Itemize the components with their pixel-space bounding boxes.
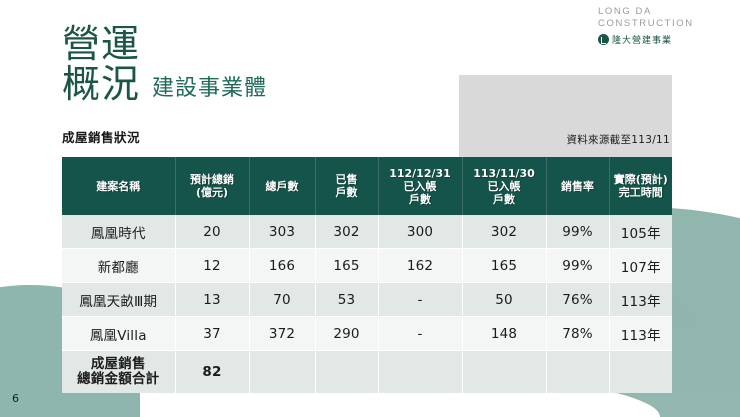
- slide-canvas: LONG DA CONSTRUCTION 隆大營建事業 營運 概況 建設事業體 …: [0, 0, 740, 417]
- cell-completion: 105年: [609, 215, 672, 249]
- cell-total-units: 166: [249, 249, 315, 283]
- logo-chinese-text: 隆大營建事業: [612, 33, 672, 46]
- cell-total-units: 372: [249, 317, 315, 351]
- cell-total-empty-2: [315, 351, 378, 394]
- col-header-booked-113: 113/11/30 已入帳 戶數: [462, 157, 546, 215]
- col-header-completion: 實際(預計) 完工時間: [609, 157, 672, 215]
- table-header-row: 建案名稱 預計總銷 (億元) 總戶數 已售 戶數 112/12/31: [62, 157, 672, 215]
- col-header-sales-rate-l1: 銷售率: [548, 180, 608, 193]
- col-header-sold-units: 已售 戶數: [315, 157, 378, 215]
- col-header-booked-113-l1: 113/11/30: [464, 167, 545, 180]
- cell-sales-rate: 99%: [546, 215, 609, 249]
- cell-total-empty-4: [462, 351, 546, 394]
- cell-total-label-l1: 成屋銷售: [63, 357, 174, 372]
- cell-booked-113: 302: [462, 215, 546, 249]
- col-header-project-name-l1: 建案名稱: [63, 180, 174, 193]
- cell-project-name: 鳳凰Villa: [62, 317, 175, 351]
- cell-booked-113: 148: [462, 317, 546, 351]
- table-total-row: 成屋銷售 總銷金額合計 82: [62, 351, 672, 394]
- col-header-booked-113-l3: 戶數: [464, 193, 545, 206]
- logo-text-line1: LONG DA: [598, 6, 718, 18]
- col-header-expected-total-sales-l2: (億元): [177, 186, 248, 199]
- page-title-line2: 概況: [62, 64, 140, 104]
- col-header-project-name: 建案名稱: [62, 157, 175, 215]
- cell-sold-units: 302: [315, 215, 378, 249]
- cell-sales-rate: 76%: [546, 283, 609, 317]
- cell-completion: 107年: [609, 249, 672, 283]
- cell-total-label-l2: 總銷金額合計: [63, 372, 174, 387]
- cell-total-empty-6: [609, 351, 672, 394]
- cell-sold-units: 290: [315, 317, 378, 351]
- page-subtitle: 建設事業體: [152, 76, 267, 104]
- cell-expected-total-sales: 20: [175, 215, 249, 249]
- cell-booked-112: -: [378, 283, 462, 317]
- col-header-booked-112: 112/12/31 已入帳 戶數: [378, 157, 462, 215]
- col-header-expected-total-sales: 預計總銷 (億元): [175, 157, 249, 215]
- col-header-booked-112-l1: 112/12/31: [380, 167, 461, 180]
- cell-booked-112: -: [378, 317, 462, 351]
- cell-total-label: 成屋銷售 總銷金額合計: [62, 351, 175, 394]
- col-header-sold-units-l2: 戶數: [317, 186, 377, 199]
- cell-total-empty-3: [378, 351, 462, 394]
- table-row: 鳳凰天畝Ⅲ期 13 70 53 - 50 76% 113年: [62, 283, 672, 317]
- cell-expected-total-sales: 12: [175, 249, 249, 283]
- cell-booked-112: 300: [378, 215, 462, 249]
- sales-table: 建案名稱 預計總銷 (億元) 總戶數 已售 戶數 112/12/31: [62, 157, 672, 393]
- cell-sales-rate: 78%: [546, 317, 609, 351]
- cell-total-units: 70: [249, 283, 315, 317]
- company-logo: LONG DA CONSTRUCTION 隆大營建事業: [598, 6, 718, 46]
- cell-completion: 113年: [609, 317, 672, 351]
- col-header-booked-113-l2: 已入帳: [464, 180, 545, 193]
- cell-project-name: 鳳凰時代: [62, 215, 175, 249]
- cell-total-units: 303: [249, 215, 315, 249]
- logo-text-line2: CONSTRUCTION: [598, 18, 718, 30]
- table-row: 鳳凰Villa 37 372 290 - 148 78% 113年: [62, 317, 672, 351]
- col-header-expected-total-sales-l1: 預計總銷: [177, 173, 248, 186]
- page-title-line1: 營運: [62, 24, 267, 64]
- sales-table-container: 建案名稱 預計總銷 (億元) 總戶數 已售 戶數 112/12/31: [62, 157, 672, 393]
- col-header-sales-rate: 銷售率: [546, 157, 609, 215]
- page-title: 營運 概況 建設事業體: [62, 24, 267, 104]
- cell-sold-units: 53: [315, 283, 378, 317]
- data-source-note: 資料來源截至113/11: [566, 132, 670, 147]
- cell-project-name: 鳳凰天畝Ⅲ期: [62, 283, 175, 317]
- cell-total-empty-5: [546, 351, 609, 394]
- page-number: 6: [12, 392, 19, 405]
- section-label: 成屋銷售狀況: [62, 127, 140, 146]
- logo-chinese-row: 隆大營建事業: [598, 33, 718, 46]
- table-row: 新都廳 12 166 165 162 165 99% 107年: [62, 249, 672, 283]
- long-da-circle-logo-icon: [598, 34, 609, 45]
- col-header-booked-112-l2: 已入帳: [380, 180, 461, 193]
- cell-expected-total-sales: 13: [175, 283, 249, 317]
- col-header-booked-112-l3: 戶數: [380, 193, 461, 206]
- col-header-completion-l2: 完工時間: [611, 186, 672, 199]
- cell-project-name: 新都廳: [62, 249, 175, 283]
- cell-total-value: 82: [175, 351, 249, 394]
- page-title-line2-row: 概況 建設事業體: [62, 64, 267, 104]
- table-row: 鳳凰時代 20 303 302 300 302 99% 105年: [62, 215, 672, 249]
- cell-sold-units: 165: [315, 249, 378, 283]
- cell-booked-113: 165: [462, 249, 546, 283]
- cell-completion: 113年: [609, 283, 672, 317]
- cell-expected-total-sales: 37: [175, 317, 249, 351]
- col-header-total-units: 總戶數: [249, 157, 315, 215]
- col-header-sold-units-l1: 已售: [317, 173, 377, 186]
- cell-total-empty-1: [249, 351, 315, 394]
- cell-booked-112: 162: [378, 249, 462, 283]
- col-header-completion-l1: 實際(預計): [611, 173, 672, 186]
- cell-booked-113: 50: [462, 283, 546, 317]
- col-header-total-units-l1: 總戶數: [251, 180, 314, 193]
- cell-sales-rate: 99%: [546, 249, 609, 283]
